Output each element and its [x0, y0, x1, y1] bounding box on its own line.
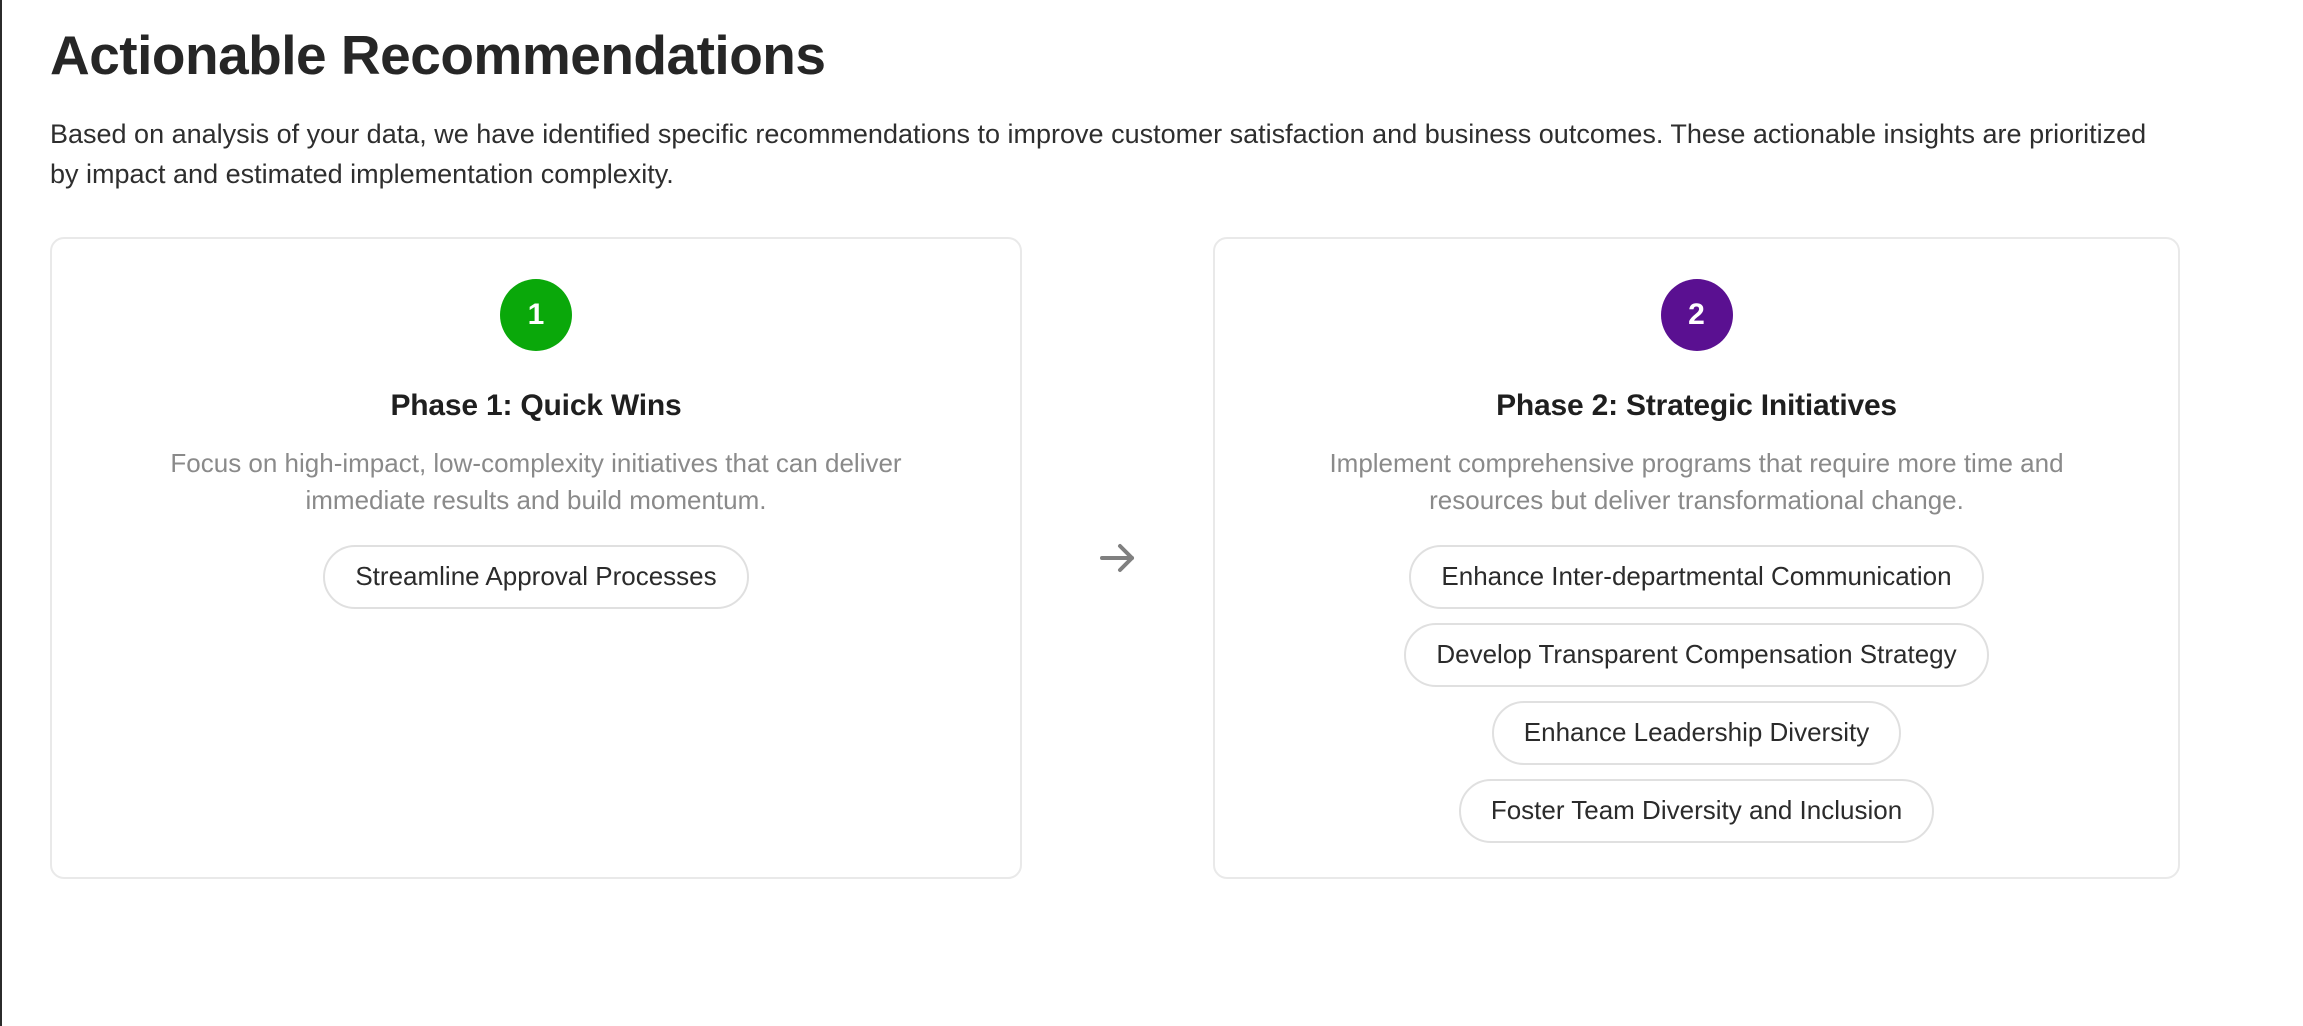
phase-flow: 1 Phase 1: Quick Wins Focus on high-impa… — [50, 195, 2303, 879]
arrow-right-icon — [1094, 534, 1142, 582]
phase-badge-2: 2 — [1661, 279, 1733, 351]
phase-badge-number: 2 — [1688, 300, 1705, 330]
phase-item-pill[interactable]: Enhance Leadership Diversity — [1492, 701, 1901, 765]
phase-item-list-1: Streamline Approval Processes — [86, 519, 986, 609]
phase-badge-number: 1 — [528, 300, 545, 330]
recommendations-section: Actionable Recommendations Based on anal… — [0, 0, 2303, 879]
phase-item-pill[interactable]: Develop Transparent Compensation Strateg… — [1404, 623, 1988, 687]
phase-title-2: Phase 2: Strategic Initiatives — [1496, 351, 1897, 423]
phase-card-2[interactable]: 2 Phase 2: Strategic Initiatives Impleme… — [1213, 237, 2180, 879]
phase-card-1[interactable]: 1 Phase 1: Quick Wins Focus on high-impa… — [50, 237, 1022, 879]
phase-badge-1: 1 — [500, 279, 572, 351]
phase-item-pill[interactable]: Streamline Approval Processes — [323, 545, 748, 609]
page-left-edge — [0, 0, 2, 1026]
phase-transition — [1022, 237, 1213, 879]
phase-description-2: Implement comprehensive programs that re… — [1307, 423, 2087, 519]
page-description: Based on analysis of your data, we have … — [50, 87, 2170, 195]
phase-item-list-2: Enhance Inter-departmental Communication… — [1249, 519, 2144, 843]
phase-title-1: Phase 1: Quick Wins — [390, 351, 681, 423]
phase-item-pill[interactable]: Foster Team Diversity and Inclusion — [1459, 779, 1934, 843]
page-title: Actionable Recommendations — [50, 0, 2303, 87]
phase-description-1: Focus on high-impact, low-complexity ini… — [146, 423, 926, 519]
phase-item-pill[interactable]: Enhance Inter-departmental Communication — [1409, 545, 1983, 609]
